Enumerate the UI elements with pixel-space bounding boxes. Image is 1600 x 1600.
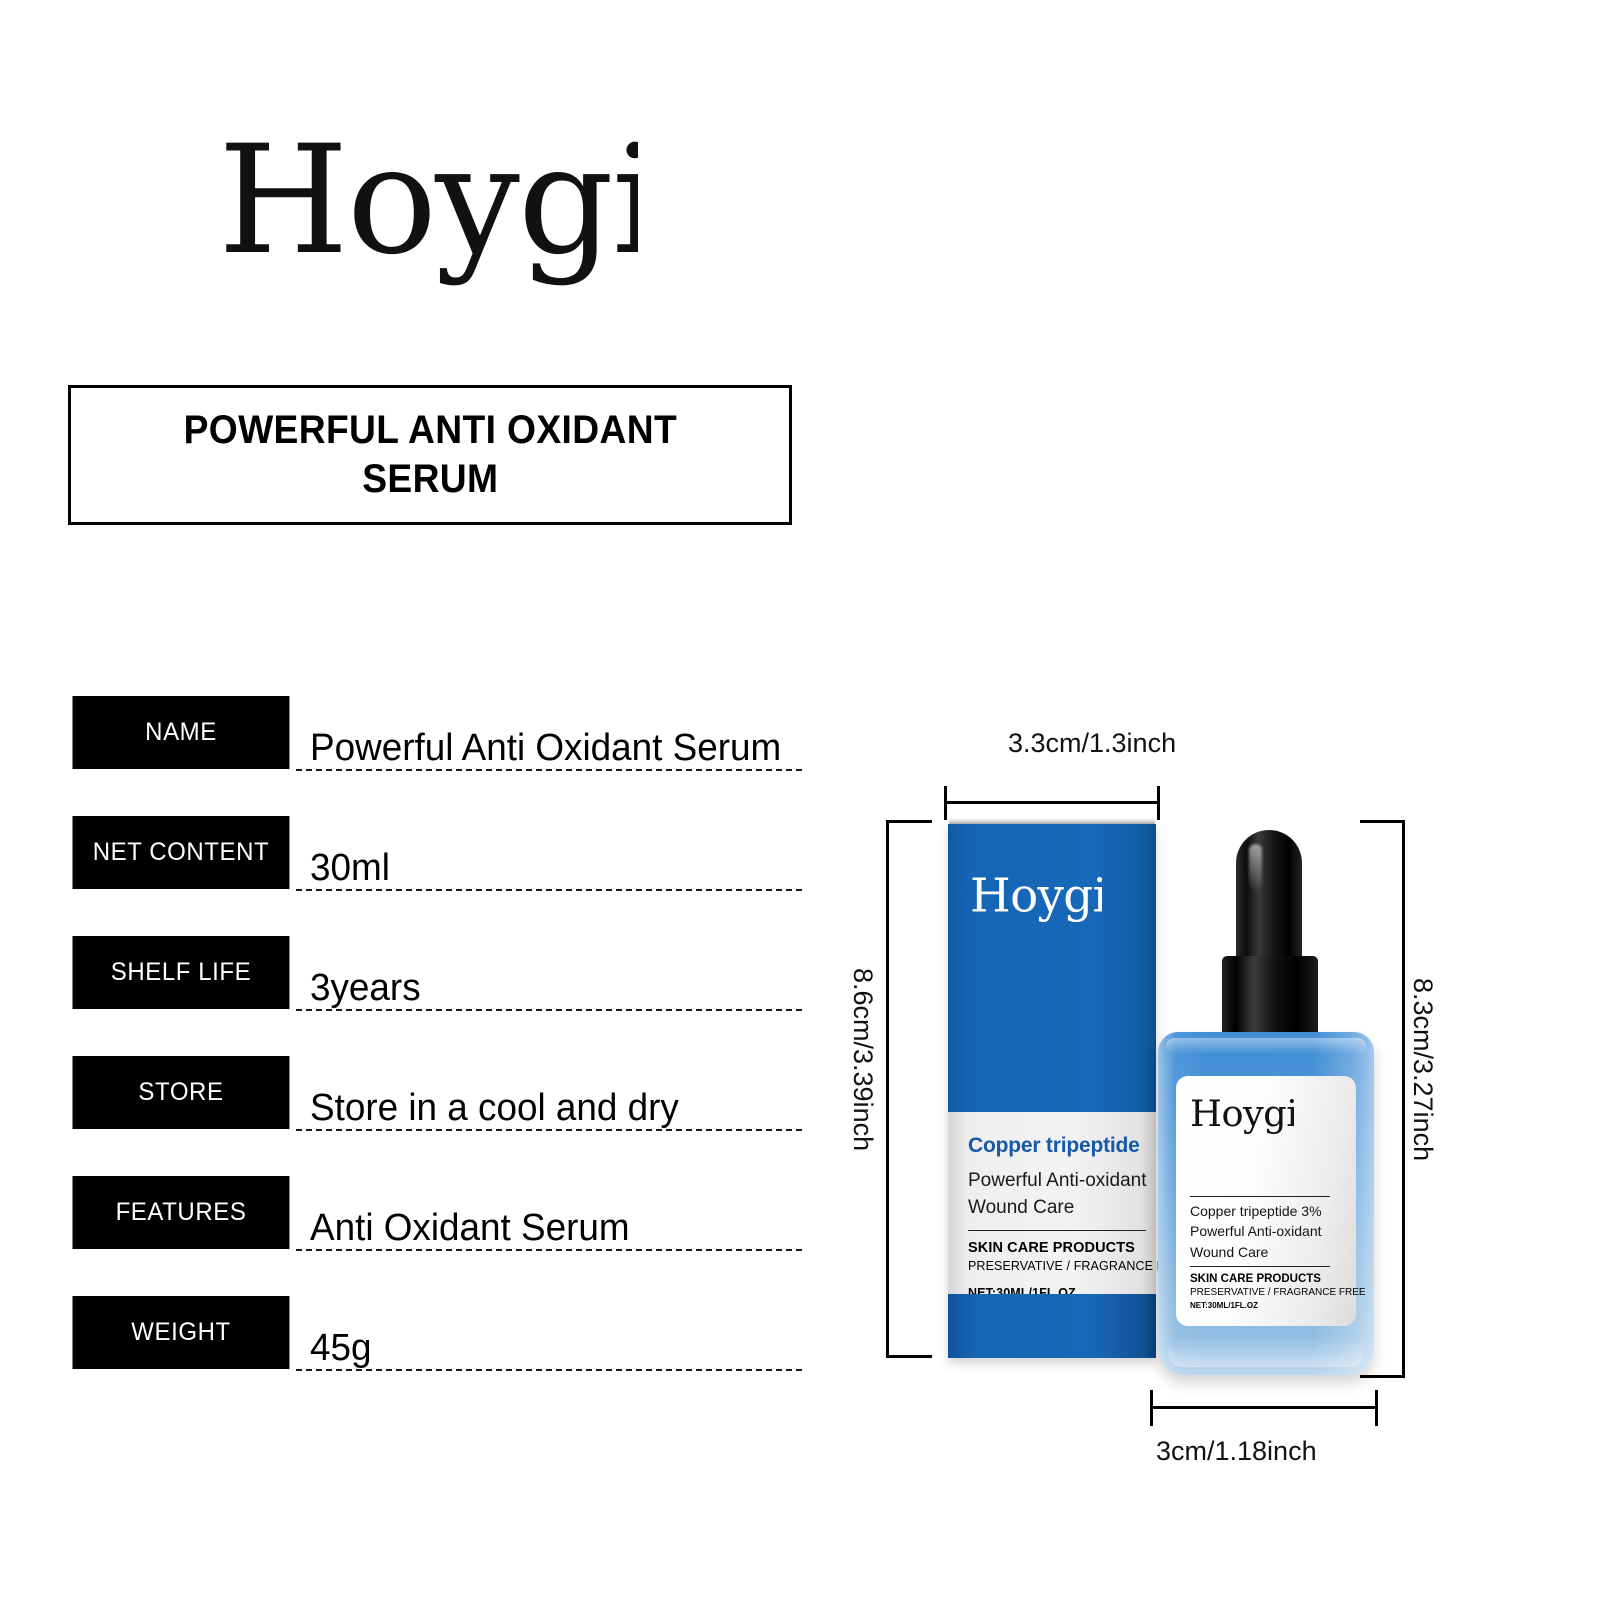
spec-value-cell: 45g — [310, 1290, 800, 1376]
bottle-benefit-line1: Powerful Anti-oxidant — [1190, 1221, 1342, 1241]
dimension-line-box-height — [886, 820, 889, 1358]
bottle-divider-top — [1190, 1196, 1330, 1197]
package-benefit-line2: Wound Care — [968, 1195, 1136, 1220]
dimension-line-box-width — [944, 801, 1160, 804]
package-benefit-line1: Powerful Anti-oxidant — [968, 1168, 1136, 1193]
spec-value-cell: Anti Oxidant Serum — [310, 1170, 800, 1256]
product-dropper-bottle: Hoygi Copper tripeptide 3% Powerful Anti… — [1158, 830, 1374, 1375]
dimension-tick-top — [886, 820, 932, 823]
table-row: FEATURES Anti Oxidant Serum — [0, 1170, 820, 1290]
dropper-bulb — [1236, 830, 1302, 966]
dimension-label-box-height: 8.6cm/3.39inch — [847, 968, 878, 1151]
dimension-line-bottle-height — [1402, 820, 1405, 1378]
row-divider — [296, 1009, 802, 1011]
package-category: SKIN CARE PRODUCTS — [968, 1240, 1136, 1256]
spec-value-cell: Powerful Anti Oxidant Serum — [310, 690, 800, 776]
product-title-box: POWERFUL ANTI OXIDANT SERUM — [68, 385, 792, 525]
bottle-highlight-bottom — [1168, 1337, 1364, 1367]
bottle-category: SKIN CARE PRODUCTS — [1190, 1273, 1342, 1285]
row-divider — [296, 1369, 802, 1371]
bottle-logo: Hoygi — [1190, 1092, 1294, 1136]
bottle-net-content: NET:30ML/1FL.OZ — [1190, 1301, 1342, 1310]
page-title: POWERFUL ANTI OXIDANT SERUM — [183, 406, 676, 504]
dimension-tick-top-right — [1360, 820, 1405, 823]
dimension-label-bottle-height: 8.3cm/3.27inch — [1407, 978, 1438, 1161]
package-ingredient: Copper tripeptide — [968, 1134, 1136, 1158]
package-logo: Hoygi — [970, 868, 1102, 924]
spec-value-cell: 30ml — [310, 810, 800, 896]
dimension-tick-bottom — [886, 1355, 932, 1358]
package-front-face: Hoygi Copper tripeptide Powerful Anti-ox… — [948, 824, 1156, 1358]
spec-value-features: Anti Oxidant Serum — [310, 1209, 630, 1247]
product-package-box: Hoygi Copper tripeptide Powerful Anti-ox… — [948, 818, 1156, 1358]
table-row: SHELF LIFE 3years — [0, 930, 820, 1050]
row-divider — [296, 889, 802, 891]
spec-value-shelf-life: 3years — [310, 969, 421, 1007]
dimension-label-bottle-width: 3cm/1.18inch — [1156, 1436, 1317, 1467]
row-divider — [296, 769, 802, 771]
package-divider — [968, 1230, 1146, 1231]
specification-table: NAME Powerful Anti Oxidant Serum NET CON… — [0, 690, 820, 1410]
bottle-highlight-top — [1166, 1038, 1366, 1054]
bottle-divider-bottom — [1190, 1266, 1330, 1267]
spec-value-cell: Store in a cool and dry — [310, 1050, 800, 1136]
package-logo-text: Hoygi — [970, 870, 1102, 924]
dropper-collar — [1222, 956, 1318, 1042]
package-bottom-band — [948, 1294, 1156, 1358]
package-info-panel: Copper tripeptide Powerful Anti-oxidant … — [948, 1112, 1156, 1294]
spec-label-shelf-life: SHELF LIFE — [73, 936, 290, 1009]
bottle-benefit-line2: Wound Care — [1190, 1242, 1342, 1262]
spec-label-weight: WEIGHT — [73, 1296, 290, 1369]
dimension-label-box-width: 3.3cm/1.3inch — [1008, 728, 1176, 759]
bottle-label: Hoygi Copper tripeptide 3% Powerful Anti… — [1176, 1076, 1356, 1326]
row-divider — [296, 1129, 802, 1131]
table-row: NAME Powerful Anti Oxidant Serum — [0, 690, 820, 810]
bottle-glass-body: Hoygi Copper tripeptide 3% Powerful Anti… — [1158, 1032, 1374, 1375]
spec-value-net-content: 30ml — [310, 849, 390, 887]
bottle-logo-text: Hoygi — [1190, 1092, 1294, 1135]
spec-label-store: STORE — [73, 1056, 290, 1129]
table-row: NET CONTENT 30ml — [0, 810, 820, 930]
bottle-ingredient: Copper tripeptide 3% — [1190, 1201, 1342, 1221]
table-row: STORE Store in a cool and dry — [0, 1050, 820, 1170]
spec-label-features: FEATURES — [73, 1176, 290, 1249]
spec-value-store: Store in a cool and dry — [310, 1089, 679, 1127]
spec-label-net-content: NET CONTENT — [73, 816, 290, 889]
dimension-tick-bottom-right2 — [1375, 1390, 1378, 1426]
product-dimension-diagram: 3.3cm/1.3inch 8.6cm/3.39inch 8.3cm/3.27i… — [840, 700, 1560, 1520]
row-divider — [296, 1249, 802, 1251]
package-free-from: PRESERVATIVE / FRAGRANCE FREE — [968, 1259, 1136, 1273]
spec-label-name: NAME — [73, 696, 290, 769]
brand-logo-text: Hoygi — [218, 114, 638, 288]
spec-value-name: Powerful Anti Oxidant Serum — [310, 729, 781, 767]
dimension-tick-bottom-right — [1360, 1375, 1405, 1378]
spec-value-cell: 3years — [310, 930, 800, 1016]
table-row: WEIGHT 45g — [0, 1290, 820, 1410]
dimension-tick-right — [1157, 786, 1160, 820]
dimension-line-bottle-width — [1150, 1406, 1378, 1409]
spec-value-weight: 45g — [310, 1329, 372, 1367]
bottle-free-from: PRESERVATIVE / FRAGRANCE FREE — [1190, 1287, 1342, 1298]
brand-logo: Hoygi — [218, 112, 638, 292]
